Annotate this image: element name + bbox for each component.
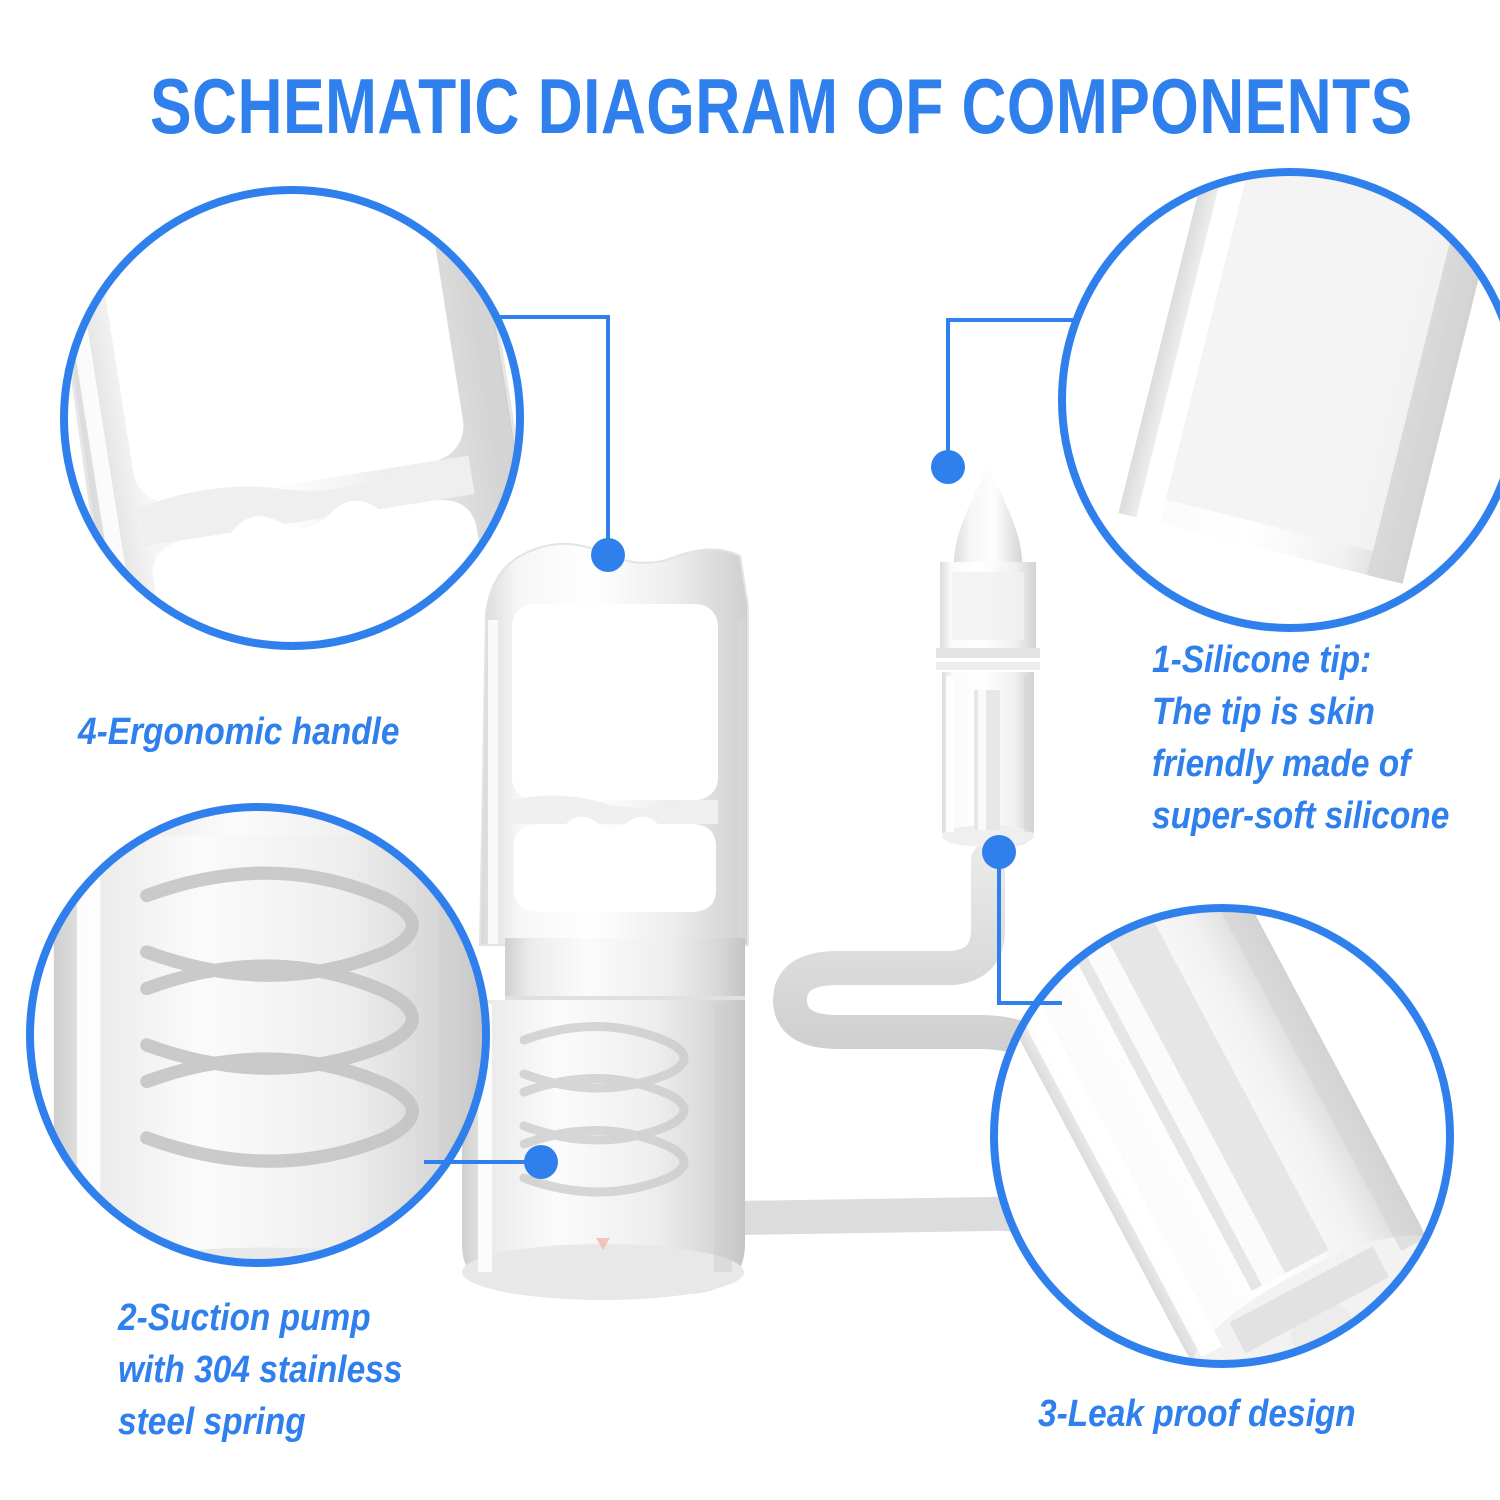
page-title: SCHEMATIC DIAGRAM OF COMPONENTS (150, 62, 1350, 150)
callout-label-ergonomic-handle: 4-Ergonomic handle (78, 706, 399, 758)
diagram-canvas: SCHEMATIC DIAGRAM OF COMPONENTS 4-Ergono… (0, 0, 1500, 1500)
callout-image-suction-pump (26, 693, 496, 1334)
callout-image-leak-proof (954, 792, 1489, 1481)
suction-pump-part (462, 938, 745, 1300)
callout-label-suction-pump: 2-Suction pump with 304 stainless steel … (118, 1292, 402, 1448)
callout-dot-silicone-tip[interactable] (931, 450, 965, 484)
callout-label-silicone-tip: 1-Silicone tip: The tip is skin friendly… (1152, 634, 1449, 842)
callout-dot-ergonomic-handle[interactable] (591, 538, 625, 572)
ergonomic-handle-part (480, 544, 748, 945)
callout-dot-leak-proof[interactable] (982, 835, 1016, 869)
callout-dot-suction-pump[interactable] (524, 1145, 558, 1179)
silicone-tip-part (936, 468, 1040, 847)
callout-label-leak-proof: 3-Leak proof design (1038, 1388, 1356, 1440)
